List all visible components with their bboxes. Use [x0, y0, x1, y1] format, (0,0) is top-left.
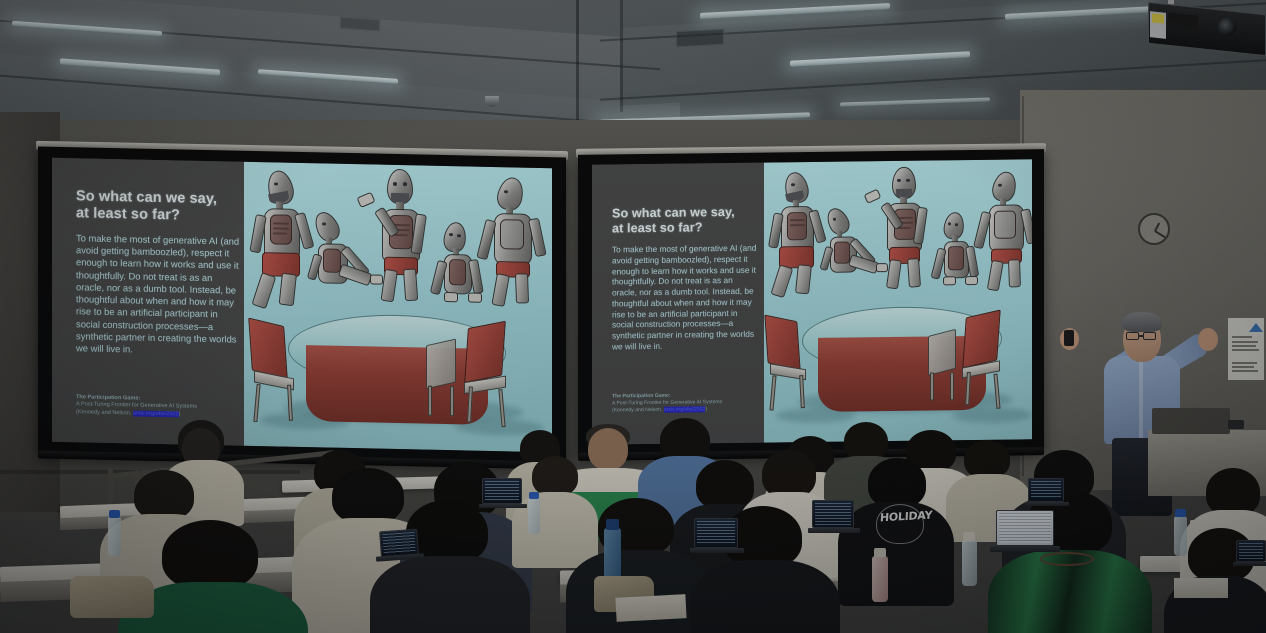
water-bottle [108, 516, 121, 556]
bottle-cap [529, 492, 539, 499]
slide-text-panel: So what can we say, at least so far? To … [592, 163, 764, 445]
ceiling-vent [676, 29, 724, 48]
bottle-cap [109, 510, 120, 518]
wall-notice [1228, 318, 1264, 380]
water-bottle [1174, 516, 1187, 556]
lecture-hall-photo: So what can we say, at least so far? To … [0, 0, 1266, 633]
bottle-cap [606, 519, 619, 530]
slide-illustration-robots [764, 159, 1032, 442]
presentation-clicker[interactable] [1064, 330, 1074, 346]
water-bottle [604, 528, 621, 582]
water-bottle [962, 540, 977, 586]
equipment-box [1152, 408, 1230, 434]
presenter-hair [1122, 312, 1162, 332]
shirt-placket [1139, 360, 1143, 442]
ceiling-light-panel [840, 97, 990, 106]
bottle-cap [874, 548, 886, 557]
slide-citation: The Participation Game: A Post-Turing Fr… [612, 392, 762, 414]
slide-title: So what can we say, at least so far? [612, 205, 762, 236]
citation-authors: (Kennedy and Nelson, arxiv.org/abs/2502) [612, 405, 762, 414]
slide-body-text: To make the most of generative AI (and a… [612, 243, 758, 353]
slide-text-panel: So what can we say, at least so far? To … [52, 158, 244, 446]
citation-link[interactable]: arxiv.org/abs/2502 [133, 410, 179, 417]
papers [615, 594, 686, 622]
wall-clock [1138, 213, 1170, 245]
bottle-cap [1175, 509, 1186, 517]
water-bottle [872, 556, 888, 602]
bottle-cap [963, 532, 975, 541]
table-cloth [306, 345, 488, 425]
bag [70, 576, 154, 618]
glasses-icon [1143, 332, 1156, 340]
slide-right: So what can we say, at least so far? To … [592, 159, 1032, 444]
projector-lens [1218, 18, 1236, 36]
presenter-right-hand [1198, 328, 1218, 351]
slide-illustration-robots [244, 162, 552, 452]
slide-left: So what can we say, at least so far? To … [52, 158, 552, 452]
slide-citation: The Participation Game: A Post-Turing Fr… [76, 394, 244, 420]
desk-device [1228, 420, 1244, 429]
table-cloth [818, 336, 986, 412]
glasses-icon [1126, 332, 1139, 340]
slide-title: So what can we say, at least so far? [76, 188, 244, 225]
slide-body-text: To make the most of generative AI (and a… [76, 232, 240, 358]
water-bottle [528, 498, 540, 534]
papers [1174, 578, 1228, 598]
citation-link[interactable]: arxiv.org/abs/2502 [664, 406, 706, 413]
